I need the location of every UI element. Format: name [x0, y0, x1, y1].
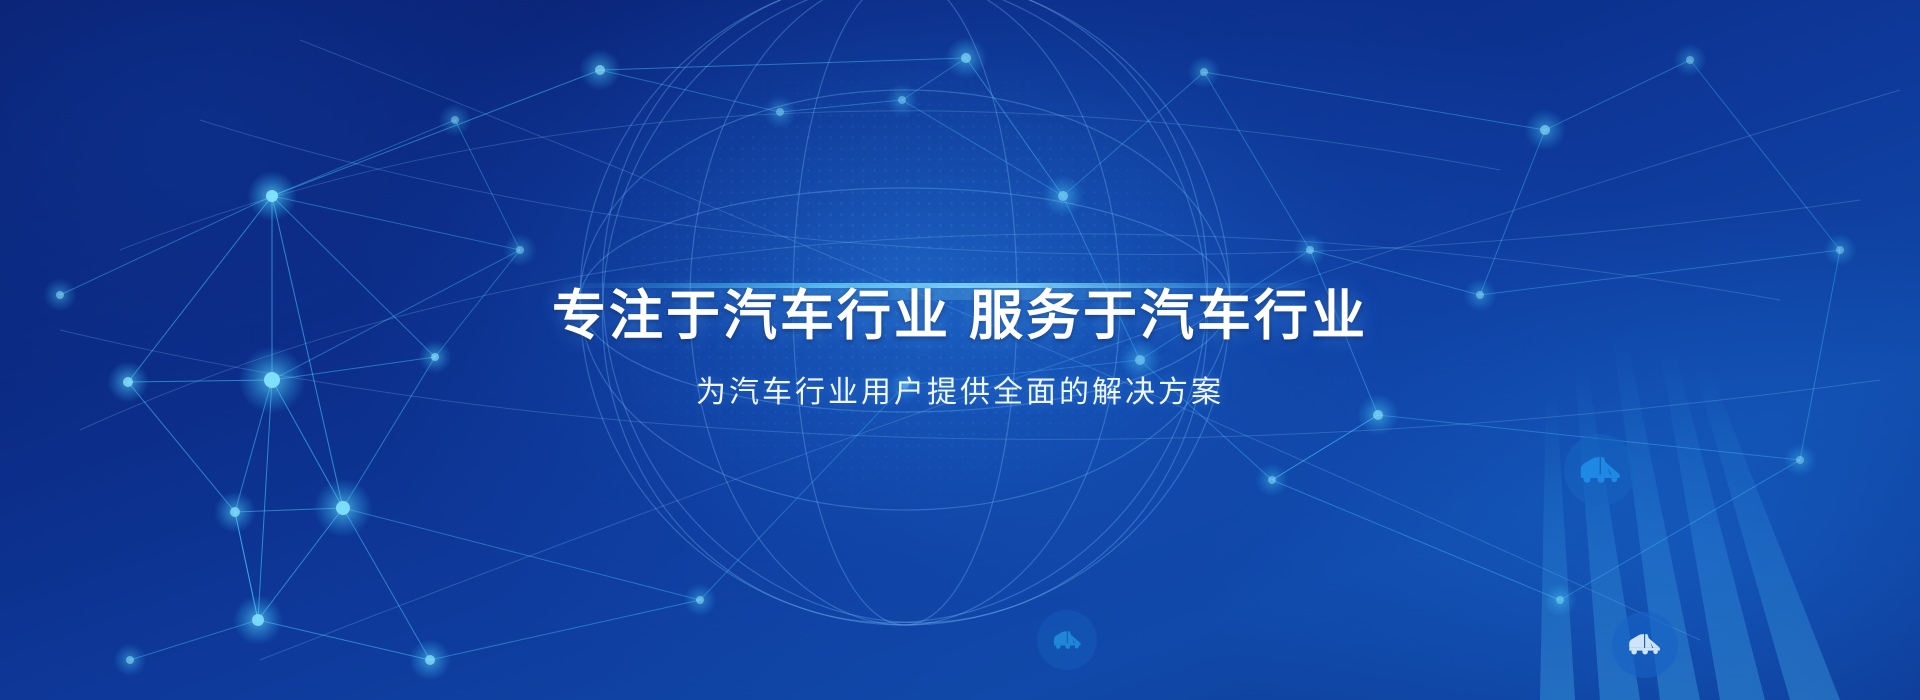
network-node [266, 190, 278, 202]
network-edge [966, 58, 1063, 196]
network-edge [258, 380, 272, 620]
network-edge [780, 100, 902, 112]
network-node [123, 377, 133, 387]
network-node-glow [314, 479, 373, 538]
network-node [1556, 596, 1564, 604]
network-node-glow [1783, 443, 1817, 477]
network-edge [435, 250, 520, 357]
network-edge [1063, 196, 1140, 360]
network-edge [902, 58, 966, 100]
network-node-glow [885, 83, 919, 117]
network-edge [235, 512, 258, 620]
network-node-glow [238, 346, 305, 413]
truck-badge [1612, 612, 1678, 678]
network-edge [343, 357, 435, 508]
network-node-glow [1823, 233, 1857, 267]
truck-icon [1578, 448, 1623, 493]
light-rays [0, 0, 1920, 700]
network-node [1135, 355, 1145, 365]
page-title: 专注于汽车行业 服务于汽车行业 [552, 288, 1368, 345]
network-edge [600, 70, 780, 112]
network-edge [343, 508, 700, 600]
network-node [595, 65, 605, 75]
network-node-glow [1187, 55, 1221, 89]
network-node [252, 614, 264, 626]
network-edge [902, 100, 1063, 196]
network-node-glow [247, 171, 297, 221]
network-edge [235, 380, 272, 512]
network-edge [272, 357, 435, 380]
network-node-glow [945, 37, 987, 79]
network-node-glow [763, 95, 797, 129]
network-edge [1310, 250, 1480, 295]
network-node [1796, 456, 1804, 464]
network-node [776, 108, 784, 116]
network-edge [60, 196, 272, 295]
network-node-glow [1042, 175, 1084, 217]
page-subtitle: 为汽车行业用户提供全面的解决方案 [696, 367, 1224, 411]
truck-icon [1627, 627, 1662, 662]
network-node [264, 372, 280, 388]
network-edge [272, 70, 600, 196]
network-node [898, 96, 906, 104]
network-edge [1272, 415, 1378, 480]
network-node-glow [503, 233, 537, 267]
truck-badge-group [0, 0, 1920, 700]
network-node [961, 53, 971, 63]
network-edge [272, 196, 435, 357]
truck-badge [1564, 434, 1636, 506]
network-edge [1140, 360, 1272, 480]
network-edge [258, 508, 343, 620]
network-edge [430, 600, 700, 660]
network-edge [1690, 60, 1840, 250]
network-edge [700, 385, 905, 600]
network-node-glow [107, 361, 149, 403]
network-edge [1272, 415, 1378, 480]
network-edge [1204, 72, 1545, 130]
network-node-glow [418, 340, 452, 374]
network-node [1058, 191, 1068, 201]
network-node-glow [1357, 394, 1399, 436]
network-edge [272, 380, 343, 508]
polygon-network [0, 0, 1920, 700]
network-edge [1272, 480, 1560, 600]
network-edge [1560, 460, 1800, 600]
network-edge [1063, 72, 1204, 196]
network-edge [272, 120, 455, 196]
network-node [336, 501, 350, 515]
network-node-glow [438, 103, 472, 137]
network-node [1200, 68, 1208, 76]
network-node-glow [233, 595, 283, 645]
network-edge [1800, 250, 1840, 460]
network-node-glow [1293, 233, 1327, 267]
network-node [1836, 246, 1844, 254]
network-edge [272, 196, 520, 250]
network-node-glow [1524, 109, 1566, 151]
network-edge [1310, 250, 1378, 415]
network-node [425, 655, 435, 665]
network-node-glow [888, 368, 922, 402]
network-node [56, 291, 64, 299]
wireframe-globe [0, 0, 1920, 700]
network-node-glow [1255, 463, 1289, 497]
network-node-glow [1119, 339, 1161, 381]
dotted-world-map [0, 0, 1920, 700]
network-edge [1545, 60, 1690, 130]
network-node [1306, 246, 1314, 254]
network-edge [128, 196, 272, 382]
network-node [1686, 56, 1694, 64]
network-node [516, 246, 524, 254]
network-node [901, 381, 909, 389]
network-edge [343, 508, 430, 660]
network-edge [1140, 250, 1310, 360]
network-edge [600, 58, 966, 70]
hero-banner: 专注于汽车行业 服务于汽车行业 为汽车行业用户提供全面的解决方案 [0, 0, 1920, 700]
network-node [1476, 291, 1484, 299]
network-node-glow [683, 583, 717, 617]
network-node-glow [579, 49, 621, 91]
truck-badge [1037, 610, 1097, 670]
truck-icon [1052, 625, 1083, 656]
network-edge [128, 380, 272, 382]
network-edge [455, 120, 520, 250]
network-edge [1480, 250, 1840, 295]
network-edge [128, 382, 235, 512]
network-node-glow [1543, 583, 1577, 617]
network-edge [272, 196, 343, 508]
network-edge [258, 620, 430, 660]
network-edge [130, 620, 258, 660]
network-edge [1378, 415, 1800, 460]
network-edge [272, 250, 520, 380]
network-node [1540, 125, 1550, 135]
network-edge [1480, 130, 1545, 295]
network-edge [235, 512, 258, 620]
network-node [1268, 476, 1276, 484]
network-node-glow [43, 278, 77, 312]
network-node-glow [1463, 278, 1497, 312]
network-node-glow [214, 491, 256, 533]
network-node [1373, 410, 1383, 420]
network-node [696, 596, 704, 604]
network-node [230, 507, 240, 517]
network-node-glow [409, 639, 451, 681]
network-node [451, 116, 459, 124]
hero-text-block: 专注于汽车行业 服务于汽车行业 为汽车行业用户提供全面的解决方案 [0, 0, 1920, 700]
network-node-glow [1673, 43, 1707, 77]
network-node [431, 353, 439, 361]
network-edge [1204, 72, 1310, 250]
network-edge [235, 508, 343, 512]
network-node-glow [113, 643, 147, 677]
network-node [126, 656, 134, 664]
network-edge [905, 360, 1140, 385]
